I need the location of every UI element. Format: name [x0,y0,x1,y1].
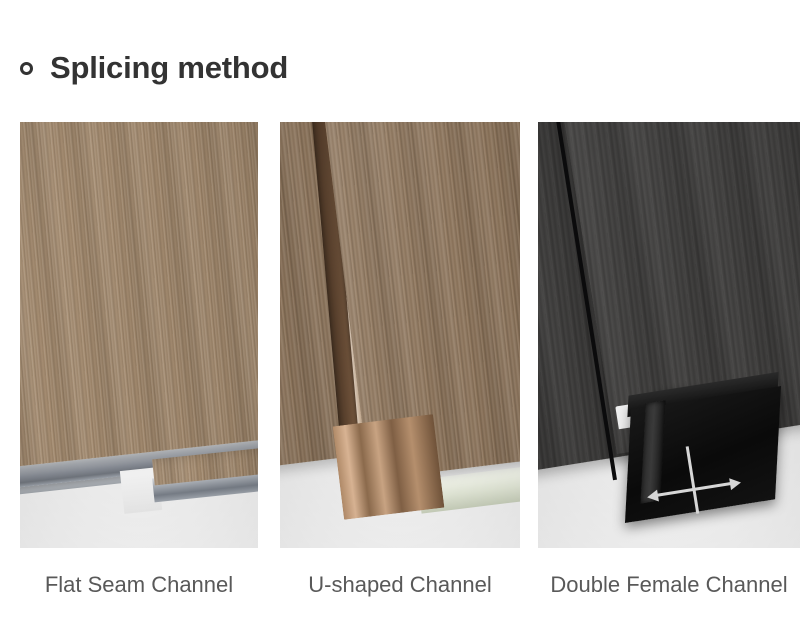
u-shaped-channel-photo [280,122,520,548]
flat-seam-channel-photo [20,122,258,548]
splicing-method-gallery [0,122,800,548]
caption-flat-seam-channel: Flat Seam Channel [20,568,258,602]
arrow-center-stem [686,446,700,514]
double-arrow-annotation [643,439,742,520]
caption-u-shaped-channel: U-shaped Channel [280,568,520,602]
tongue-ridge [332,414,443,519]
tongue-profile [332,414,443,519]
circle-outline-icon [20,62,33,75]
gallery-captions: Flat Seam Channel U-shaped Channel Doubl… [0,568,800,608]
page-title: Splicing method [20,44,288,90]
splicing-method-page: Splicing method [0,0,800,636]
arrow-head-left-icon [647,489,660,503]
arrow-head-right-icon [729,476,742,490]
wood-panel-surface [20,122,258,471]
gallery-item-u-shaped-channel[interactable] [280,122,520,548]
gallery-item-flat-seam-channel[interactable] [20,122,258,548]
caption-double-female-channel: Double Female Channel [538,568,800,602]
gallery-item-double-female-channel[interactable] [538,122,800,548]
double-female-channel-photo [538,122,800,548]
wood-grain-texture [20,122,258,471]
section-title-text: Splicing method [50,52,288,83]
